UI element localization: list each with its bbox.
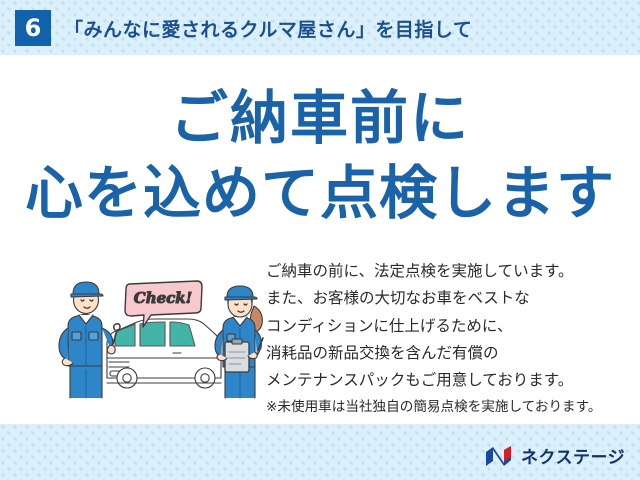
body-footnote: ※未使用車は当社独自の簡易点検を実施しております。 xyxy=(266,396,626,420)
brand-name: ネクステージ xyxy=(521,443,625,468)
body-paragraph: ご納車の前に、法定点検を実施しています。 また、お客様の大切なお車をベストな コ… xyxy=(266,258,626,420)
headline-block: ご納車前に 心を込めて点検します xyxy=(0,88,640,224)
body-line-5: メンテナンスパックもご用意しております。 xyxy=(266,367,626,394)
section-number-badge: 6 xyxy=(15,10,51,46)
check-bubble-label: Check! xyxy=(134,289,193,307)
mechanics-illustration: Check! xyxy=(55,270,270,400)
mechanic-left xyxy=(59,282,120,398)
body-line-2: また、お客様の大切なお車をベストな xyxy=(266,285,626,312)
headline-line-2: 心を込めて点検します xyxy=(0,163,640,224)
promo-panel: 6 「みんなに愛されるクルマ屋さん」を目指して ご納車前に 心を込めて点検します xyxy=(0,0,640,480)
body-line-4: 消耗品の新品交換を含んだ有償の xyxy=(266,340,626,367)
nextage-n-mark-icon xyxy=(484,445,514,467)
brand-logo: ネクステージ xyxy=(484,443,625,468)
headline-line-1: ご納車前に xyxy=(0,88,640,149)
body-line-3: コンディションに仕上げるために、 xyxy=(266,313,626,340)
mechanic-right xyxy=(215,286,263,398)
section-header: 6 「みんなに愛されるクルマ屋さん」を目指して xyxy=(15,10,472,46)
van-icon xyxy=(107,319,221,388)
section-header-title: 「みんなに愛されるクルマ屋さん」を目指して xyxy=(64,15,472,42)
body-line-1: ご納車の前に、法定点検を実施しています。 xyxy=(266,258,626,285)
